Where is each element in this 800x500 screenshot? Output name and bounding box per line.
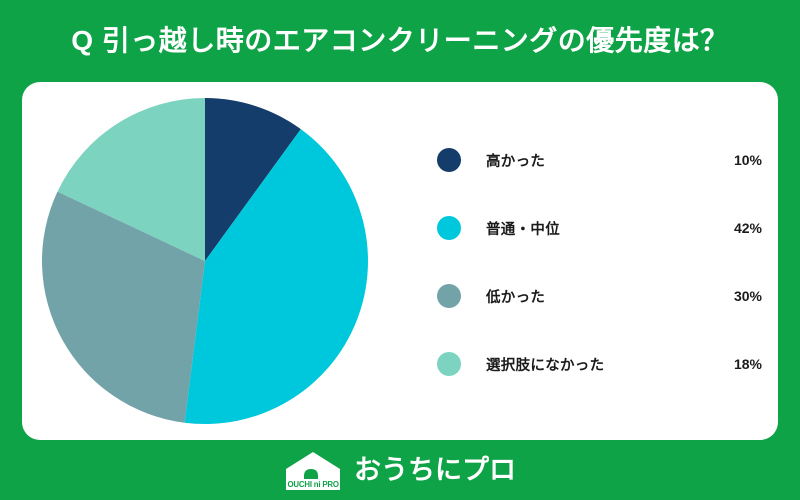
legend-item-2[interactable]: 低かった 30% bbox=[420, 262, 778, 330]
house-badge-text: OUCHI ni PRO bbox=[287, 481, 338, 489]
legend-color-swatch-icon-3 bbox=[437, 352, 461, 376]
legend-color-swatch-icon-0 bbox=[437, 148, 461, 172]
legend-color-swatch-icon-1 bbox=[437, 216, 461, 240]
legend-value-2: 30% bbox=[734, 288, 762, 304]
legend-label-2: 低かった bbox=[486, 286, 545, 307]
pie-chart-region bbox=[22, 82, 412, 440]
legend-label-0: 高かった bbox=[486, 150, 545, 171]
pie-slice-group bbox=[42, 98, 368, 424]
house-icon-badge: OUCHI ni PRO bbox=[286, 479, 340, 490]
legend-label-1: 普通・中位 bbox=[486, 218, 560, 239]
legend-value-0: 10% bbox=[734, 152, 762, 168]
legend-item-3[interactable]: 選択肢になかった 18% bbox=[420, 330, 778, 398]
chart-legend: 高かった 10% 普通・中位 42% 低かった 30% 選択肢になかった 18% bbox=[420, 90, 778, 434]
brand-logo[interactable]: OUCHI ni PRO おうちにプロ bbox=[284, 450, 516, 490]
chart-card: 高かった 10% 普通・中位 42% 低かった 30% 選択肢になかった 18% bbox=[22, 82, 778, 440]
brand-wordmark: おうちにプロ bbox=[354, 457, 516, 484]
legend-item-1[interactable]: 普通・中位 42% bbox=[420, 194, 778, 262]
legend-value-1: 42% bbox=[734, 220, 762, 236]
legend-value-3: 18% bbox=[734, 356, 762, 372]
legend-color-swatch-icon-2 bbox=[437, 284, 461, 308]
title-bar: Q 引っ越し時のエアコンクリーニングの優先度は？ bbox=[0, 0, 800, 82]
house-icon: OUCHI ni PRO bbox=[284, 450, 342, 490]
pie-chart bbox=[42, 98, 368, 424]
legend-item-0[interactable]: 高かった 10% bbox=[420, 126, 778, 194]
page-title: Q 引っ越し時のエアコンクリーニングの優先度は？ bbox=[71, 27, 729, 55]
legend-label-3: 選択肢になかった bbox=[486, 354, 604, 375]
footer-logo: OUCHI ni PRO おうちにプロ bbox=[0, 440, 800, 500]
